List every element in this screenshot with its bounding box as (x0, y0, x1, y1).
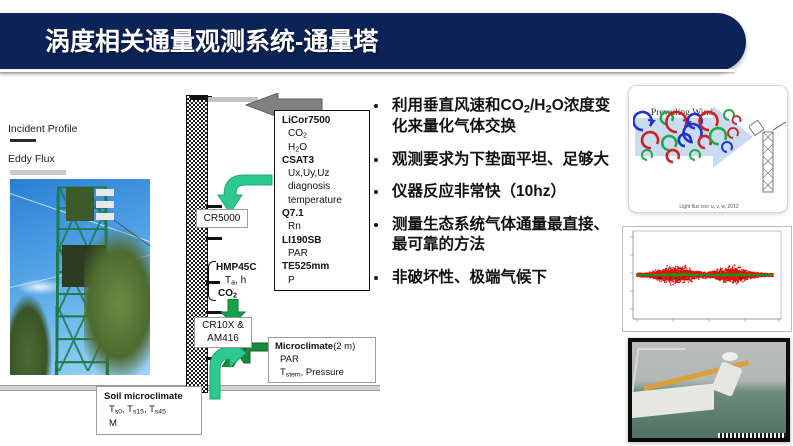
hmp-brace (208, 261, 216, 301)
prevailing-wind-panel: Prevailing Wind (628, 85, 788, 213)
hmp45c-co2: CO2 (216, 287, 257, 300)
eddy-swirls (633, 108, 755, 170)
instrument-list-box: LiCor7500 CO2 H2O CSAT3 Ux,Uy,Uz diagnos… (274, 110, 370, 291)
tower-photo (10, 179, 150, 375)
wind-panel-caption: Light flux cov. u, v, w, 2012 (629, 204, 788, 210)
tower-tick (206, 237, 222, 240)
hmp45c-group: HMP45C Ta, h CO2 (216, 261, 257, 300)
flux-tower-diagram: Incident Profile Eddy Flux (0, 85, 380, 446)
bullet-item: 仪器反应非常快（10hz） (370, 182, 620, 202)
bullet-item: 观测要求为下垫面平坦、足够大 (370, 150, 620, 170)
bullet-list: 利用垂直风速和CO2/H2O浓度变化来量化气体交换 观测要求为下垫面平坦、足够大… (370, 96, 620, 301)
field-sensor-photo (628, 338, 790, 442)
instrument-par: PAR (282, 247, 364, 260)
legend-incident-profile-swatch (10, 139, 36, 142)
soil-moisture: M (104, 417, 197, 430)
legend-incident-profile-label: Incident Profile (8, 123, 77, 135)
instrument-diagnosis: diagnosis (282, 180, 364, 193)
instrument-temperature: temperature (282, 194, 364, 207)
flux-timeseries-chart (622, 226, 792, 332)
microclimate-tstem-pressure: Tstem, Pressure (275, 367, 371, 380)
legend-eddy-flux-swatch (10, 170, 66, 175)
instrument-rn: Rn (282, 220, 364, 233)
instrument-p: P (282, 274, 364, 287)
soil-microclimate-box: Soil microclimate Ts0, Ts15, Ts45 M (96, 386, 202, 435)
page-title: 涡度相关通量观测系统-通量塔 (45, 22, 378, 58)
slide-root: 涡度相关通量观测系统-通量塔 Incident Profile Eddy Flu… (0, 0, 793, 446)
microclimate-title: Microclimate(2 m) (275, 341, 371, 354)
instrument-te525mm: TE525mm (282, 260, 364, 273)
soil-title: Soil microclimate (104, 390, 197, 403)
soil-temps: Ts0, Ts15, Ts45 (104, 403, 197, 417)
legend-eddy-flux-label: Eddy Flux (8, 153, 55, 165)
chart-svg (623, 227, 792, 332)
bullet-item: 利用垂直风速和CO2/H2O浓度变化来量化气体交换 (370, 96, 620, 137)
cr10x-line2: AM416 (198, 333, 248, 346)
cr10x-line1: CR10X & (198, 320, 248, 333)
bullet-item: 非破坏性、极端气候下 (370, 268, 620, 288)
hmp45c-vars: Ta, h (216, 274, 257, 287)
wind-tower-icon (749, 116, 787, 194)
instrument-uxuyuz: Ux,Uy,Uz (282, 167, 364, 180)
bullet-item: 测量生态系统气体通量最直接、最可靠的方法 (370, 215, 620, 255)
microclimate-par: PAR (275, 354, 371, 367)
instrument-licor7500: LiCor7500 (282, 114, 364, 127)
instrument-q71: Q7.1 (282, 207, 364, 220)
photo-content (632, 342, 786, 438)
instrument-li190sb: LI190SB (282, 234, 364, 247)
microclimate-box: Microclimate(2 m) PAR Tstem, Pressure (268, 337, 376, 383)
instrument-csat3: CSAT3 (282, 154, 364, 167)
hmp45c-name: HMP45C (216, 261, 257, 274)
instrument-co2: CO2 (282, 127, 364, 140)
title-underline (0, 69, 735, 72)
instrument-h2o: H2O (282, 141, 364, 154)
cr10x-am416-box: CR10X & AM416 (194, 317, 252, 348)
cr5000-box: CR5000 (196, 209, 248, 228)
